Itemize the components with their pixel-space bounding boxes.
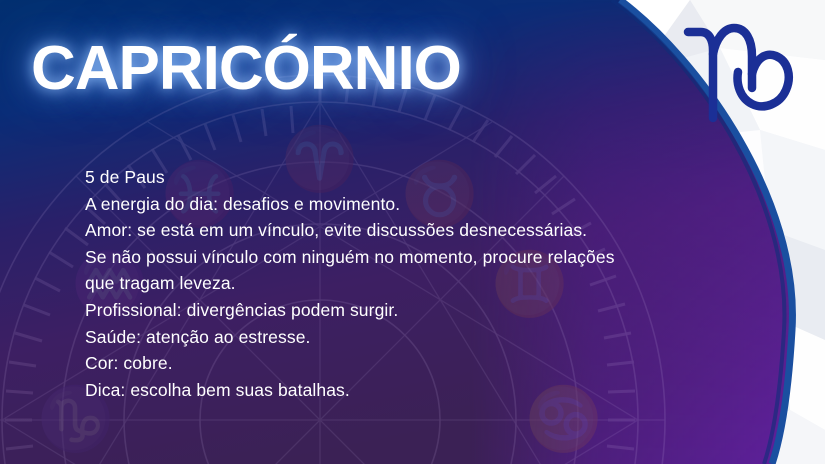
horoscope-line: Profissional: divergências podem surgir. — [85, 297, 615, 324]
horoscope-line: 5 de Paus — [85, 164, 615, 191]
horoscope-line: Se não possui vínculo com ninguém no mom… — [85, 244, 615, 297]
horoscope-line: Dica: escolha bem suas batalhas. — [85, 377, 615, 404]
capricorn-glyph-icon — [676, 14, 802, 130]
horoscope-text: 5 de Paus A energia do dia: desafios e m… — [85, 164, 615, 403]
page-title: CAPRICÓRNIO — [31, 33, 461, 105]
horoscope-line: Saúde: atenção ao estresse. — [85, 324, 615, 351]
horoscope-graphic: ♈ ♉ ♊ ♋ ♌ ♍ ♎ ♏ ♐ ♑ ♒ ♓ CAPRICÓRNIO 5 de… — [0, 0, 825, 464]
horoscope-line: Cor: cobre. — [85, 350, 615, 377]
horoscope-line: Amor: se está em um vínculo, evite discu… — [85, 217, 615, 244]
horoscope-line: A energia do dia: desafios e movimento. — [85, 191, 615, 218]
